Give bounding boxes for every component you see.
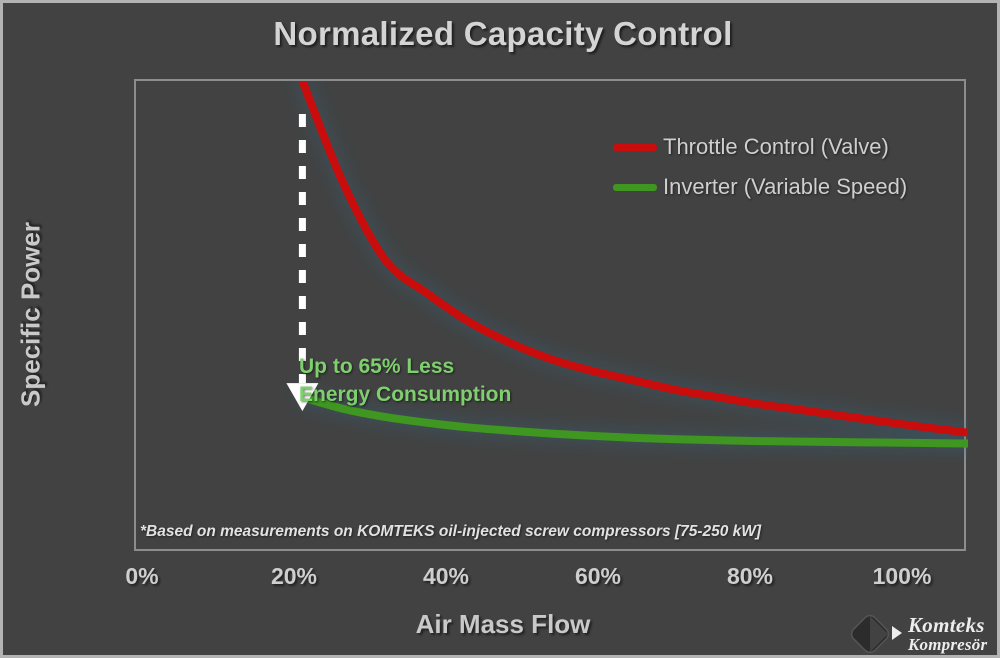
legend-swatch-throttle-control: [613, 144, 657, 151]
x-tick-label: 60%: [538, 563, 658, 590]
legend-item-inverter[interactable]: Inverter (Variable Speed): [613, 167, 907, 207]
plot-area: Up to 65% Less Energy Consumption Thrott…: [134, 79, 966, 551]
legend-swatch-inverter: [613, 184, 657, 191]
energy-saving-callout: Up to 65% Less Energy Consumption: [299, 353, 511, 408]
x-tick-label: 0%: [82, 563, 202, 590]
callout-line-2: Energy Consumption: [299, 381, 511, 409]
legend-label-throttle-control: Throttle Control (Valve): [663, 134, 889, 160]
legend-item-throttle-control[interactable]: Throttle Control (Valve): [613, 127, 907, 167]
chart-canvas: Normalized Capacity Control Specific Pow…: [0, 0, 1000, 658]
chart-title: Normalized Capacity Control: [3, 15, 1000, 53]
x-tick-label: 40%: [386, 563, 506, 590]
logo-wordmark: Komteks Kompresör: [908, 615, 987, 653]
logo-line-2: Kompresör: [908, 636, 987, 653]
x-tick-label: 80%: [690, 563, 810, 590]
logo-line-1: Komteks: [908, 615, 987, 636]
y-axis-title: Specific Power: [16, 35, 47, 595]
play-arrow-icon: [892, 626, 902, 640]
legend-label-inverter: Inverter (Variable Speed): [663, 174, 907, 200]
brand-logo[interactable]: Komteks Kompresör: [848, 610, 1000, 658]
legend: Throttle Control (Valve) Inverter (Varia…: [613, 127, 907, 207]
x-tick-label: 20%: [234, 563, 354, 590]
footnote: *Based on measurements on KOMTEKS oil-in…: [140, 523, 761, 541]
komteks-diamond-icon: [848, 612, 906, 656]
x-tick-label: 100%: [842, 563, 962, 590]
callout-line-1: Up to 65% Less: [299, 353, 511, 381]
